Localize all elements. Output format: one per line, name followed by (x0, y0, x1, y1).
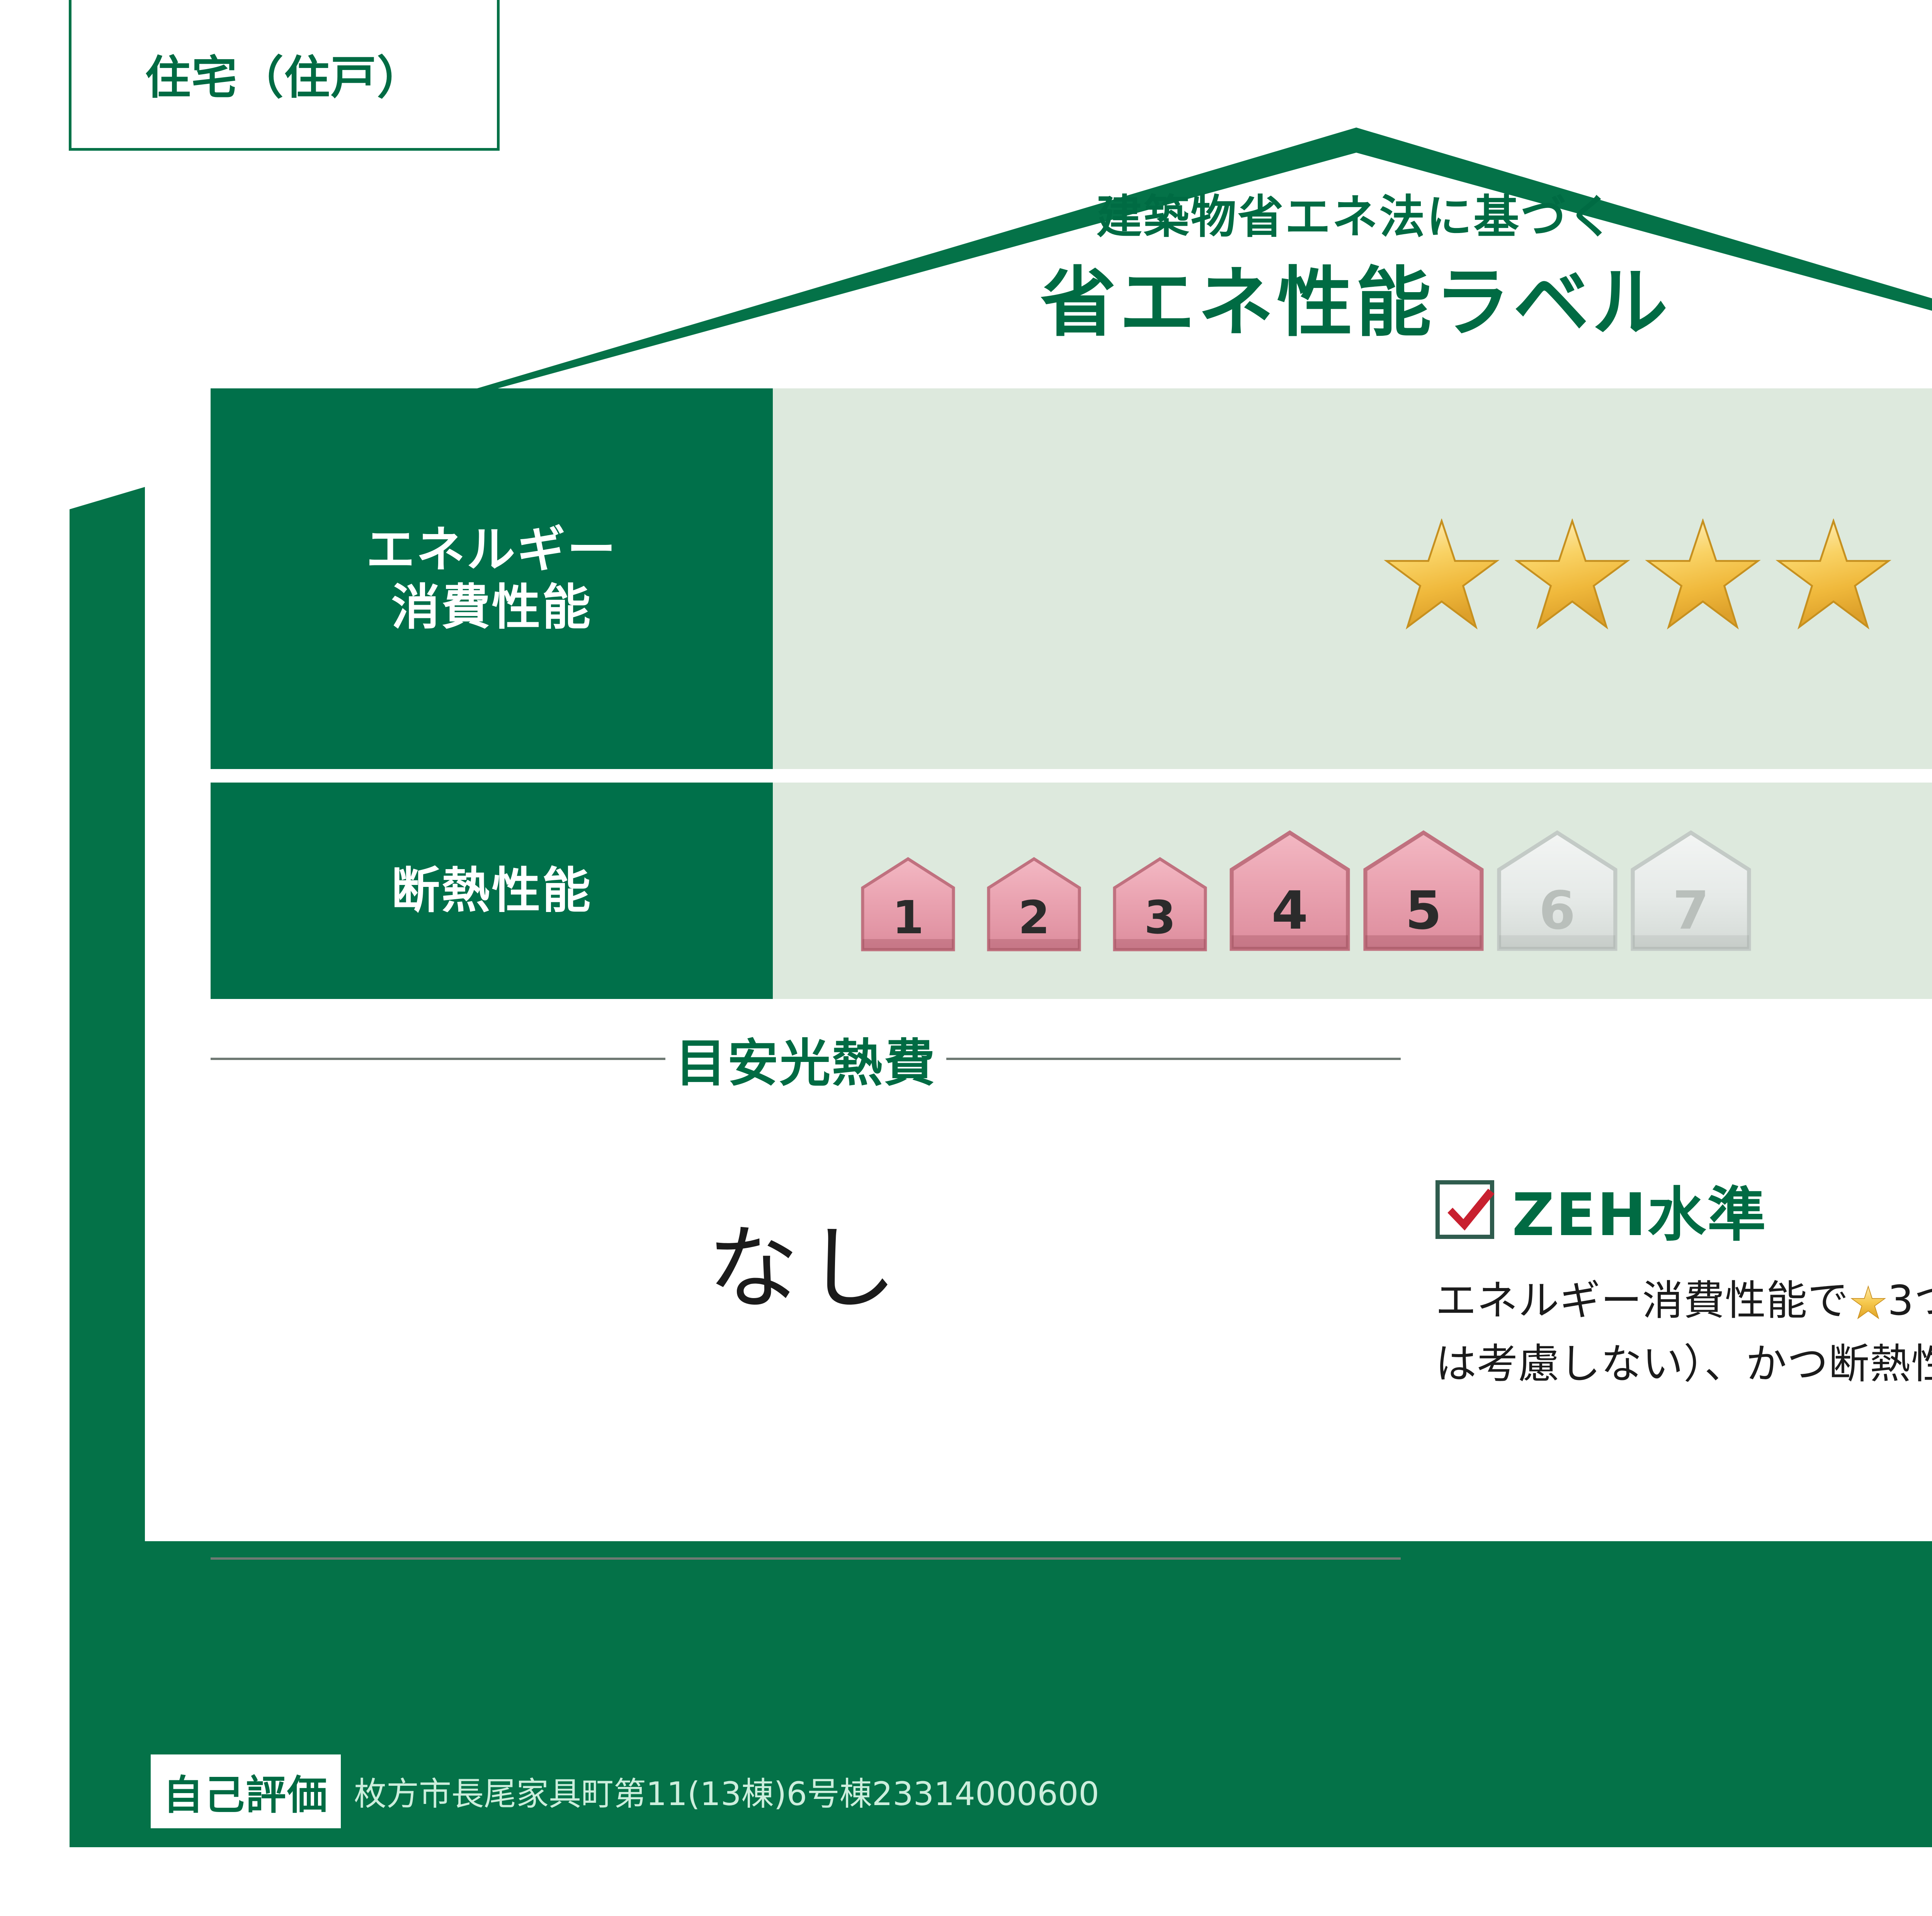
label-footer: 自己評価 枚方市長尾家具町第11(13棟)6号棟23314000600 評価日 … (70, 1735, 1932, 1847)
zeh-desc-part3: は考慮しない）、かつ断熱性能で (1435, 1340, 1932, 1388)
insulation-level-3: 3 (1102, 856, 1218, 953)
insulation-level-number: 2 (976, 891, 1092, 944)
row-energy-key: エネルギー 消費性能 (211, 388, 773, 769)
insulation-level-5: 5 (1362, 829, 1485, 953)
utility-rule-left (211, 1058, 665, 1060)
star-icon (1384, 519, 1500, 635)
row-insulation-key: 断熱性能 (211, 783, 773, 999)
utility-rule-bottom (211, 1557, 1401, 1560)
insulation-level-number: 3 (1102, 891, 1218, 944)
zeh-checkbox[interactable] (1435, 1180, 1494, 1239)
insulation-level-number: 5 (1362, 880, 1485, 941)
header-subtitle: 建築物省エネ法に基づく (0, 180, 1932, 246)
zeh-section: ZEH水準 エネルギー消費性能で3つ（太陽光発電 は考慮しない）、かつ断熱性能で… (1435, 1167, 1932, 1396)
row-insulation-value: 1234567 (773, 783, 1932, 999)
tab-building-type-label: 住宅（住戸） (145, 41, 423, 107)
star-icon (1776, 519, 1891, 635)
insulation-level-1: 1 (850, 856, 966, 953)
zeh-header: ZEH水準 (1435, 1167, 1932, 1252)
row-insulation-key-label: 断熱性能 (391, 862, 592, 920)
row-energy-key-line2: 消費性能 (391, 579, 592, 636)
utility-cost-heading: 目安光熱費 (211, 1047, 1401, 1070)
insulation-level-2: 2 (976, 856, 1092, 953)
row-energy-value (773, 388, 1932, 769)
row-energy-performance: エネルギー 消費性能 (211, 388, 1932, 769)
insulation-level-7: 7 (1629, 829, 1753, 953)
star-icon (1514, 519, 1630, 635)
row-energy-key-line1: エネルギー (366, 521, 617, 579)
star-icon (1850, 1285, 1886, 1321)
tab-building-type: 住宅（住戸） (69, 0, 500, 151)
insulation-level-number: 7 (1629, 880, 1753, 941)
zeh-desc-part1: エネルギー消費性能で (1435, 1277, 1849, 1324)
zeh-desc-part2: 3つ（太陽光発電 (1888, 1277, 1932, 1324)
star-rating (1384, 519, 1891, 635)
check-icon (1437, 1180, 1501, 1243)
insulation-level-number: 1 (850, 891, 966, 944)
utility-cost-value: なし (211, 1194, 1401, 1326)
insulation-level-4: 4 (1228, 829, 1352, 953)
insulation-level-scale: 1234567 (850, 829, 1753, 953)
energy-performance-label: 住宅（住戸） 再エネ設備なし 建築物省エネ法に基づく 省エネ性能ラベル エネルギ… (0, 0, 1932, 1916)
zeh-title: ZEH水準 (1512, 1167, 1767, 1252)
self-evaluation-badge: 自己評価 (151, 1754, 341, 1828)
utility-cost-label: 目安光熱費 (675, 1022, 936, 1096)
utility-rule-right (946, 1058, 1401, 1060)
star-icon (1645, 519, 1761, 635)
row-insulation-performance: 断熱性能 1234567 (211, 783, 1932, 999)
insulation-level-6: 6 (1495, 829, 1619, 953)
insulation-level-number: 4 (1228, 880, 1352, 941)
zeh-description: エネルギー消費性能で3つ（太陽光発電 は考慮しない）、かつ断熱性能で5を達成 (1435, 1269, 1932, 1396)
insulation-level-number: 6 (1495, 880, 1619, 941)
property-address: 枚方市長尾家具町第11(13棟)6号棟23314000600 (354, 1768, 1099, 1815)
page-title: 省エネ性能ラベル (0, 242, 1932, 351)
